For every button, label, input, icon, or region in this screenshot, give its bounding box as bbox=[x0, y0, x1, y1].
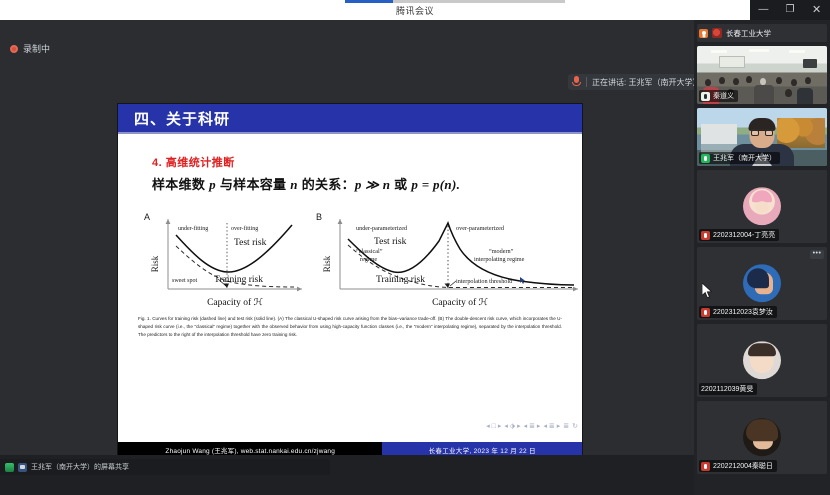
panel-b-annot-modern2: interpolating regime bbox=[474, 256, 525, 263]
participant-name-badge-3: 2202312004-丁亮亮 bbox=[699, 229, 779, 241]
university-logo-icon bbox=[712, 28, 722, 38]
participant-name-badge-1: 秦道义 bbox=[699, 90, 738, 102]
window-title: 腾讯会议 bbox=[396, 4, 434, 17]
share-icon bbox=[5, 463, 14, 472]
panel-a-svg: A Risk bbox=[142, 209, 310, 309]
minimize-button[interactable]: — bbox=[752, 5, 774, 15]
participant-name-badge-2: 王兆军（南开大学） bbox=[699, 152, 780, 164]
panel-b-annot-modern1: “modern” bbox=[489, 248, 514, 255]
microphone-muted-icon bbox=[701, 308, 710, 317]
panel-a-annot-testrisk: Test risk bbox=[234, 238, 267, 248]
formula-mid1: 与样本容量 bbox=[216, 177, 290, 192]
participant-name-3: 2202312004-丁亮亮 bbox=[713, 230, 775, 240]
recording-indicator: 录制中 bbox=[10, 42, 50, 55]
beamer-nav-row: ◂ □ ▸ ◂ ⬗ ▸ ◂ ≣ ▸ ◂ ≣ ▸ ≣ ↻ bbox=[410, 420, 578, 432]
avatar bbox=[743, 418, 781, 456]
microphone-icon bbox=[572, 76, 581, 88]
nav-glyph-frame[interactable]: ◂ □ ▸ bbox=[486, 422, 501, 430]
participant-tile-5[interactable]: 2202112039黄旻 bbox=[697, 324, 827, 397]
panel-b-annot-classical2: regime bbox=[360, 256, 377, 263]
panel-a-annot-sweetspot: sweet spot bbox=[172, 278, 197, 284]
campus-building bbox=[701, 124, 737, 144]
microphone-icon bbox=[701, 154, 710, 163]
panel-b-xlabel: Capacity of ℋ bbox=[432, 297, 488, 308]
panel-a-label: A bbox=[144, 212, 150, 222]
nav-glyph-section[interactable]: ◂ ≣ ▸ bbox=[524, 422, 541, 430]
participant-rail[interactable]: 长春工业大学 bbox=[694, 20, 830, 495]
chart-panel-b: B Risk bbox=[314, 209, 582, 309]
figure-caption: Fig. 1. Curves for training risk (dashed… bbox=[138, 315, 562, 339]
screen-share-toast-label: 王兆军（南开大学）的屏幕共享 bbox=[31, 462, 129, 472]
microphone-icon bbox=[701, 92, 710, 101]
avatar bbox=[743, 187, 781, 225]
org-strip: 长春工业大学 bbox=[697, 24, 827, 42]
nav-glyph-appendix[interactable]: ≣ bbox=[563, 422, 569, 430]
panel-b-annot-classical1: “classical” bbox=[356, 248, 383, 255]
title-bar: 腾讯会议 bbox=[0, 0, 830, 20]
presentation-slide: 四、关于科研 4. 高维统计推断 样本维数 p 与样本容量 n 的关系：p ≫ … bbox=[118, 104, 582, 458]
participant-name-5: 2202112039黄旻 bbox=[701, 384, 753, 394]
window-controls: — ❐ ✕ bbox=[750, 0, 830, 20]
participant-tile-1[interactable]: 秦道义 bbox=[697, 46, 827, 104]
panel-b-annot-underparam: under-parameterized bbox=[356, 225, 408, 232]
avatar bbox=[743, 264, 781, 302]
close-button[interactable]: ✕ bbox=[806, 5, 828, 16]
active-speaker-label: 正在讲话: 王兆军（南开大学）； bbox=[592, 77, 704, 88]
participant-name-4: 2202312023袁梦汝 bbox=[713, 307, 773, 317]
panel-b-ylabel: Risk bbox=[322, 255, 332, 272]
panel-b-annot-testrisk: Test risk bbox=[374, 237, 407, 247]
participant-name-2: 王兆军（南开大学） bbox=[713, 153, 776, 163]
active-speaker-indicator: 正在讲话: 王兆军（南开大学）； bbox=[568, 74, 710, 90]
panel-b-svg: B Risk bbox=[314, 209, 582, 309]
panel-b-annot-overparam: over-parameterized bbox=[456, 225, 505, 232]
formula-mid2: 的关系： bbox=[298, 177, 355, 192]
participant-name-badge-4: 2202312023袁梦汝 bbox=[699, 306, 777, 318]
participant-name-0: 长春工业大学 bbox=[726, 28, 771, 39]
panel-a-annot-trainingrisk: Training risk bbox=[214, 275, 263, 285]
screen-share-toast[interactable]: 王兆军（南开大学）的屏幕共享 bbox=[0, 459, 330, 475]
panel-a-annot-overfitting: over-fitting bbox=[231, 225, 258, 232]
participant-tile-4[interactable]: ••• 2202312023袁梦汝 bbox=[697, 247, 827, 320]
campus-trees bbox=[777, 118, 825, 148]
formula-n1: n bbox=[290, 177, 298, 192]
nav-glyph-presentation[interactable]: ◂ ≣ ▸ bbox=[543, 422, 560, 430]
microphone-muted-icon bbox=[701, 462, 710, 471]
divider bbox=[586, 77, 587, 87]
shared-screen-stage: 录制中 正在讲话: 王兆军（南开大学）； 四、关于科研 4. 高维统计推断 样本… bbox=[0, 20, 694, 475]
panel-a-ylabel: Risk bbox=[150, 255, 160, 272]
meeting-window: 腾讯会议 — ❐ ✕ 录制中 正在讲话: 王兆军（南开大学）； 四、关于科研 4… bbox=[0, 0, 830, 495]
formula-a: p ≫ n bbox=[355, 177, 390, 192]
nav-glyph-subsection[interactable]: ◂ ⬗ ▸ bbox=[504, 422, 520, 430]
microphone-muted-icon bbox=[701, 231, 710, 240]
maximize-button[interactable]: ❐ bbox=[779, 5, 801, 15]
more-options-icon[interactable]: ••• bbox=[810, 250, 824, 259]
participant-name-badge-6: 2202212004秦聪日 bbox=[699, 460, 777, 472]
double-descent-figure: A Risk bbox=[136, 209, 564, 309]
slide-formula-line: 样本维数 p 与样本容量 n 的关系：p ≫ n 或 p = p(n). bbox=[152, 174, 570, 193]
participant-tile-2[interactable]: 王兆军（南开大学） bbox=[697, 108, 827, 166]
host-icon bbox=[699, 29, 708, 38]
panel-a-xlabel: Capacity of ℋ bbox=[207, 297, 263, 308]
classroom-projector-screen bbox=[719, 56, 745, 68]
classroom-tv-icon bbox=[803, 59, 817, 68]
slide-title: 四、关于科研 bbox=[134, 108, 230, 129]
recording-label: 录制中 bbox=[23, 42, 50, 55]
formula-prefix: 样本维数 bbox=[152, 177, 209, 192]
participant-tile-3[interactable]: 2202312004-丁亮亮 bbox=[697, 170, 827, 243]
slide-section-label: 4. 高维统计推断 bbox=[152, 154, 570, 170]
record-dot-icon bbox=[10, 45, 18, 53]
participant-name-1: 秦道义 bbox=[713, 91, 734, 101]
panel-b-label: B bbox=[316, 212, 322, 222]
slide-body: 4. 高维统计推断 样本维数 p 与样本容量 n 的关系：p ≫ n 或 p =… bbox=[118, 154, 582, 339]
formula-p1: p bbox=[209, 177, 216, 192]
participant-name-6: 2202212004秦聪日 bbox=[713, 461, 773, 471]
avatar bbox=[743, 341, 781, 379]
formula-b: p = p(n). bbox=[411, 177, 460, 192]
monitor-icon bbox=[18, 463, 27, 472]
panel-b-annot-trainingrisk: Training risk bbox=[376, 275, 425, 285]
title-bar-progress bbox=[345, 0, 565, 3]
slide-header: 四、关于科研 bbox=[118, 104, 582, 132]
nav-glyph-back[interactable]: ↻ bbox=[572, 422, 578, 430]
participant-name-badge-5: 2202112039黄旻 bbox=[699, 383, 757, 395]
participant-tile-6[interactable]: 2202212004秦聪日 bbox=[697, 401, 827, 474]
panel-b-annot-threshold: interpolation threshold bbox=[456, 278, 513, 285]
panel-a-annot-underfitting: under-fitting bbox=[178, 225, 208, 232]
participant-tile-0[interactable]: 长春工业大学 bbox=[697, 24, 827, 42]
formula-or: 或 bbox=[390, 177, 411, 192]
glasses-icon bbox=[751, 129, 773, 135]
chart-panel-a: A Risk bbox=[142, 209, 310, 309]
